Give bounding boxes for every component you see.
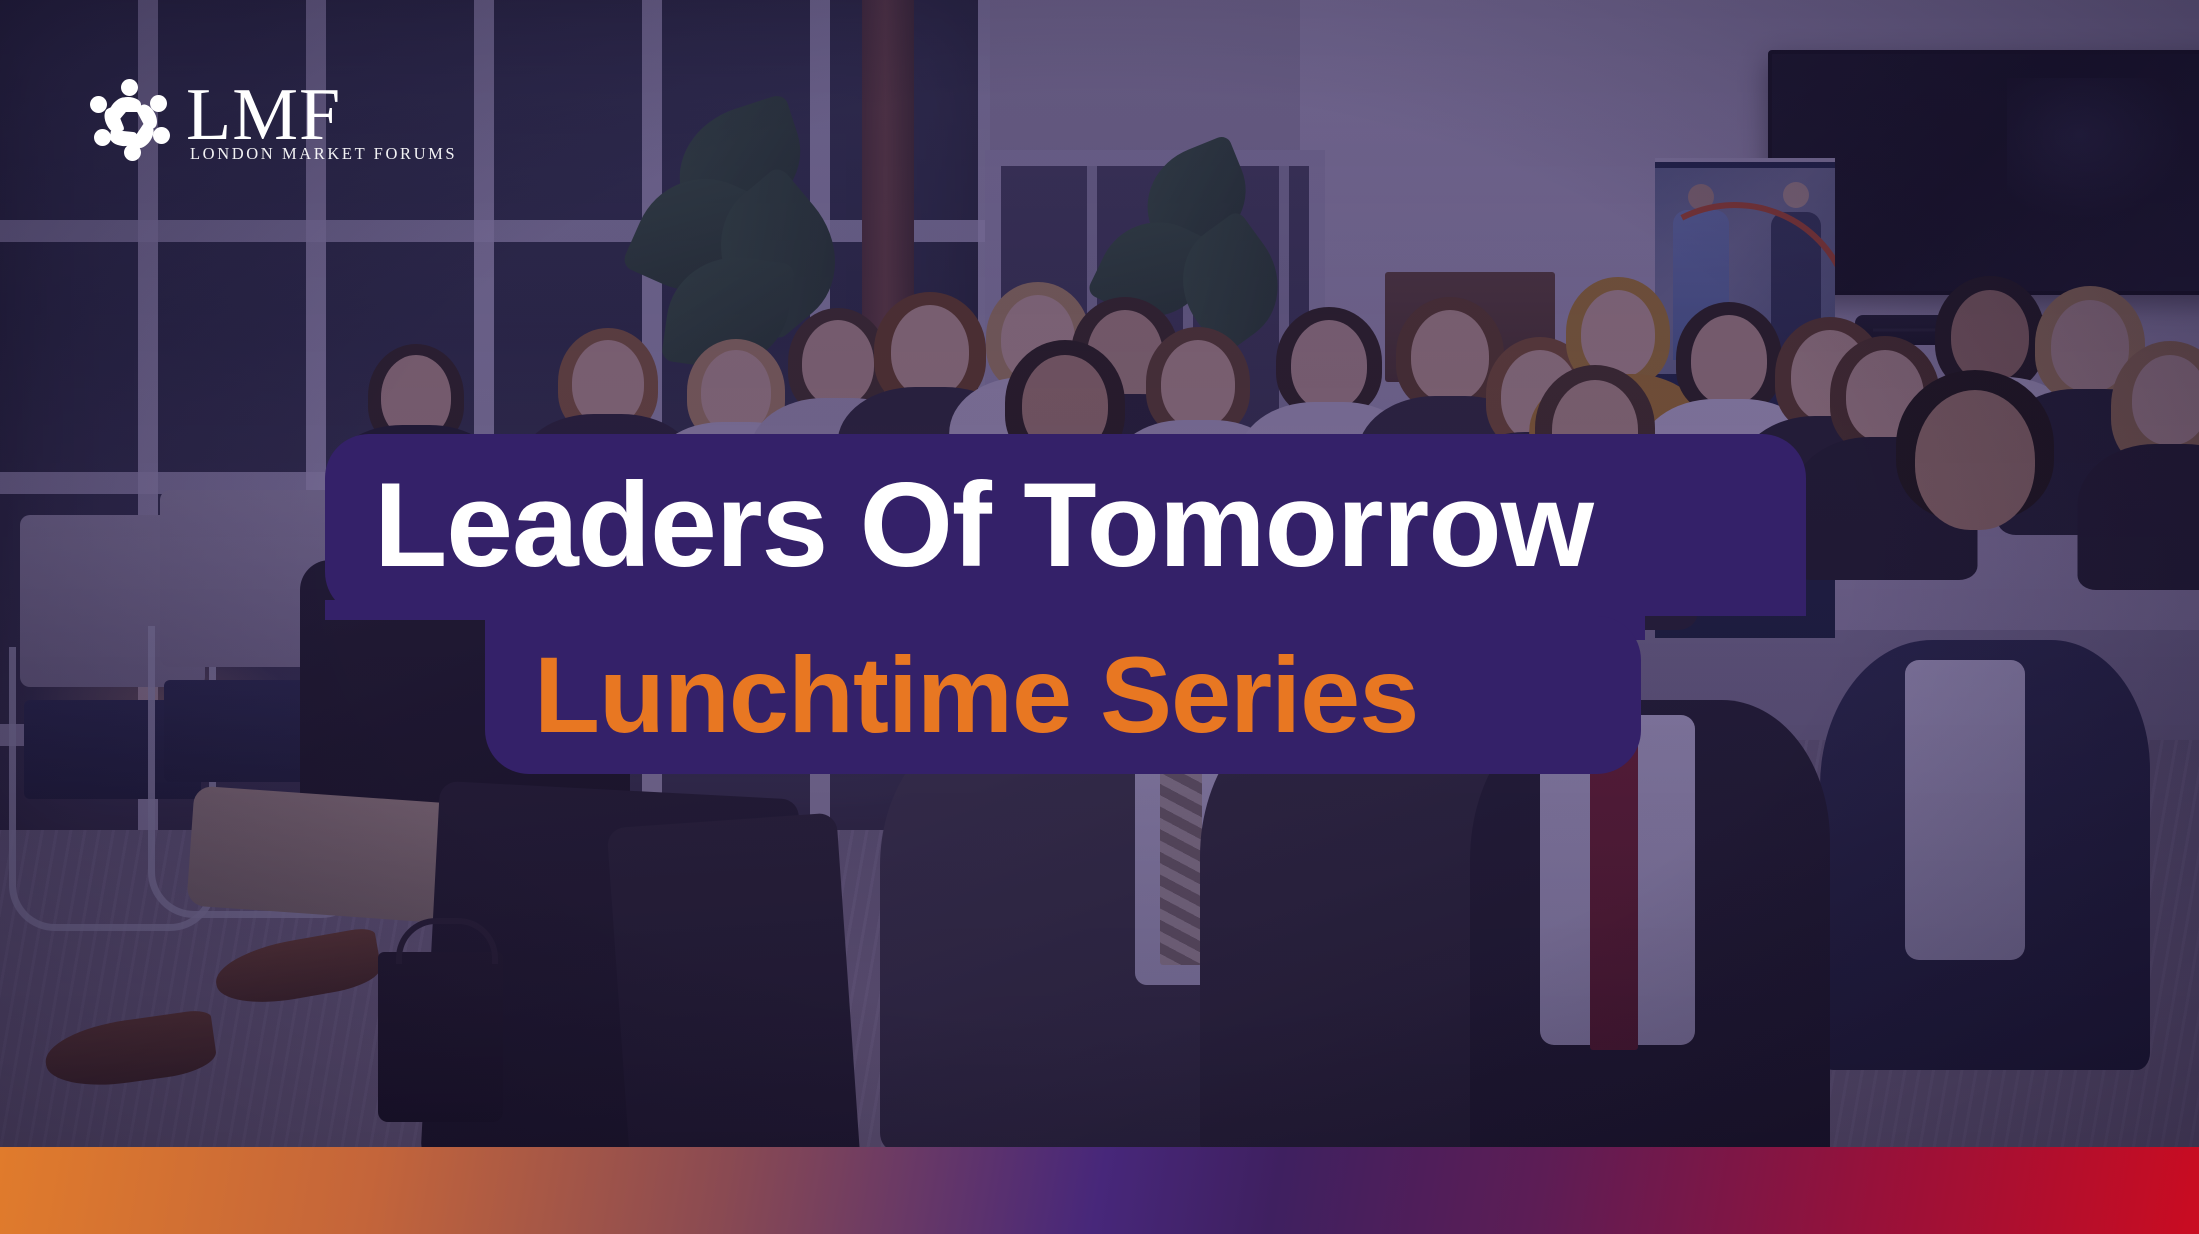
subhead-plate: Lunchtime Series	[485, 616, 1641, 774]
footer-gradient-bar	[0, 1147, 2199, 1234]
headline-plate: Leaders Of Tomorrow	[325, 434, 1806, 616]
lmf-tagline: LONDON MARKET FORUMS	[186, 146, 457, 163]
lmf-logo: LMF LONDON MARKET FORUMS	[88, 78, 457, 163]
lmf-circle-people-logo-icon	[88, 79, 170, 161]
subhead-text: Lunchtime Series	[534, 641, 1418, 749]
lmf-wordmark: LMF LONDON MARKET FORUMS	[186, 78, 457, 163]
headline-text: Leaders Of Tomorrow	[374, 465, 1593, 585]
lmf-wordmark-text: LMF	[186, 78, 457, 152]
event-promo-banner: PUTTING YOU AT THE HEART OF THE INSURANC…	[0, 0, 2199, 1234]
